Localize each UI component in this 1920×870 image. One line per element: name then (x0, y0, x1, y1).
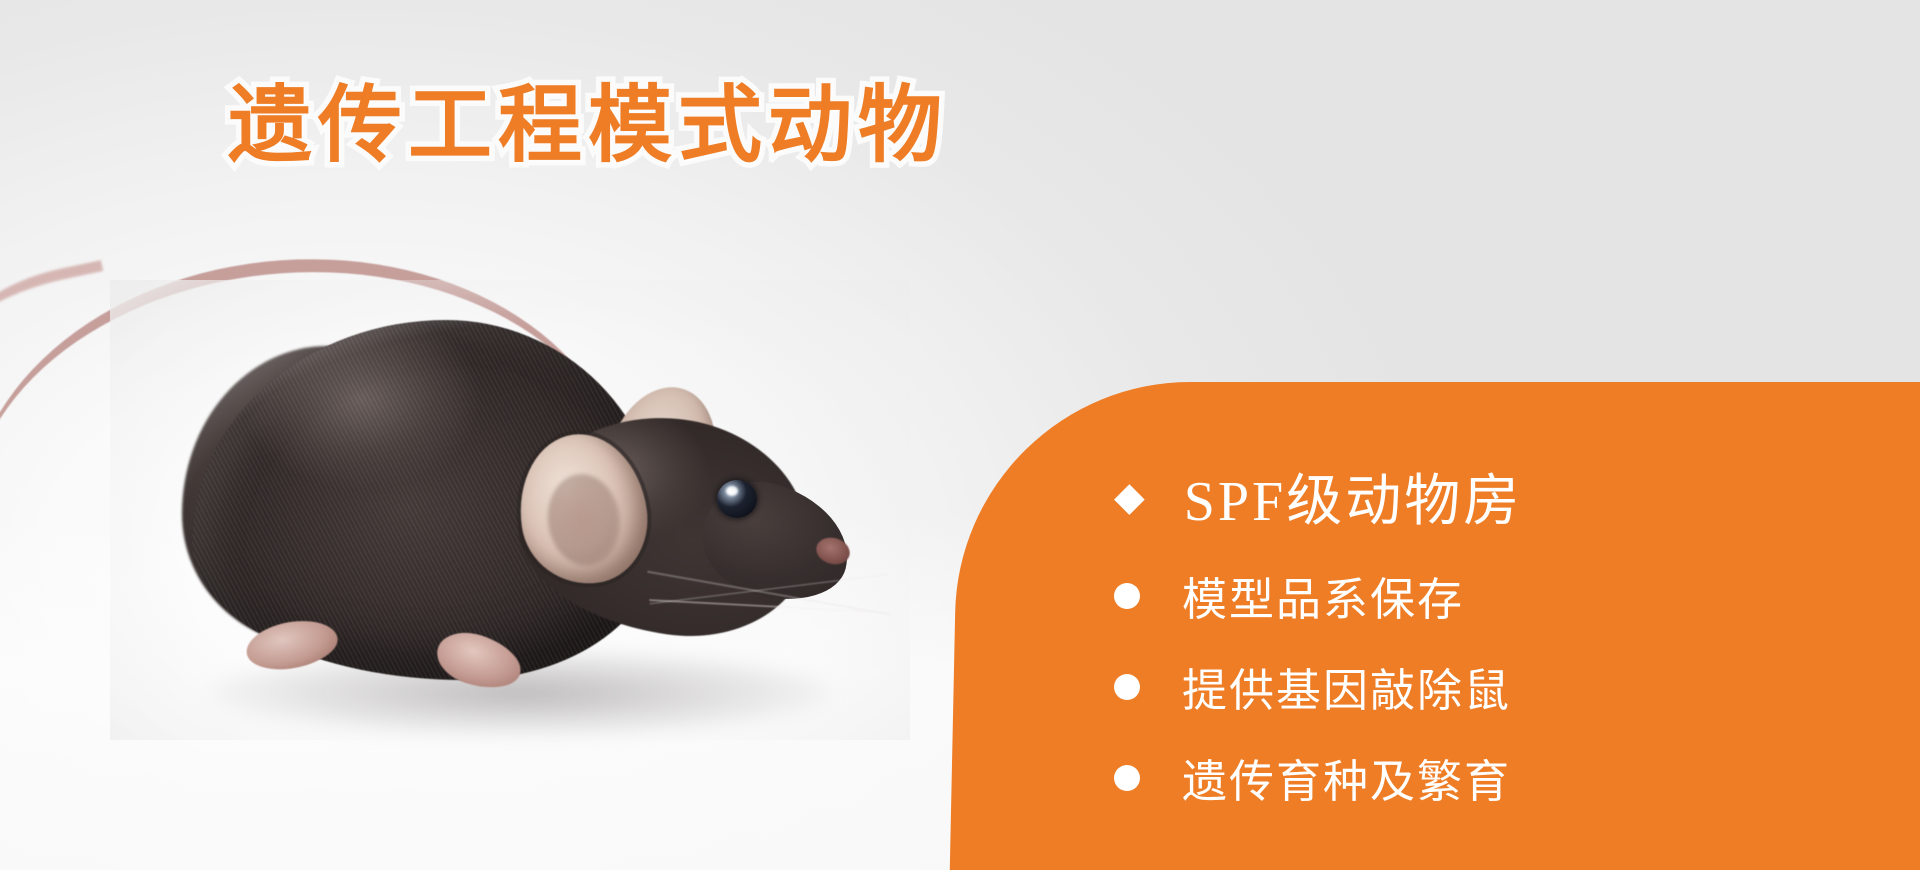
list-item-label: 模型品系保存 (1182, 563, 1464, 628)
list-item: 模型品系保存 (1114, 563, 1834, 628)
dot-bullet-icon (1114, 674, 1140, 700)
lab-mouse-photo (0, 250, 920, 770)
diamond-bullet-icon: ◆ (1114, 477, 1148, 517)
list-item: 提供基因敲除鼠 (1114, 654, 1834, 719)
list-item-label: 遗传育种及繁育 (1182, 745, 1511, 810)
list-item-label: 提供基因敲除鼠 (1182, 654, 1511, 719)
features-panel: ◆ SPF级动物房 模型品系保存 提供基因敲除鼠 遗传育种及繁育 …… (950, 382, 1920, 870)
ellipsis-more: …… (1354, 836, 1834, 870)
mouse-eye-highlight (726, 486, 738, 496)
features-panel-inner: ◆ SPF级动物房 模型品系保存 提供基因敲除鼠 遗传育种及繁育 …… (960, 382, 1920, 870)
features-list: ◆ SPF级动物房 模型品系保存 提供基因敲除鼠 遗传育种及繁育 …… (1114, 382, 1834, 870)
page-title: 遗传工程模式动物 (228, 78, 948, 172)
feature-heading-label: SPF级动物房 (1184, 456, 1522, 537)
list-item: 遗传育种及繁育 (1114, 745, 1834, 810)
dot-bullet-icon (1114, 765, 1140, 791)
promo-banner: 遗传工程模式动物 ◆ SPF级动物房 (0, 0, 1920, 870)
dot-bullet-icon (1114, 583, 1140, 609)
feature-heading: ◆ SPF级动物房 (1114, 456, 1834, 537)
mouse-eye (717, 480, 757, 518)
